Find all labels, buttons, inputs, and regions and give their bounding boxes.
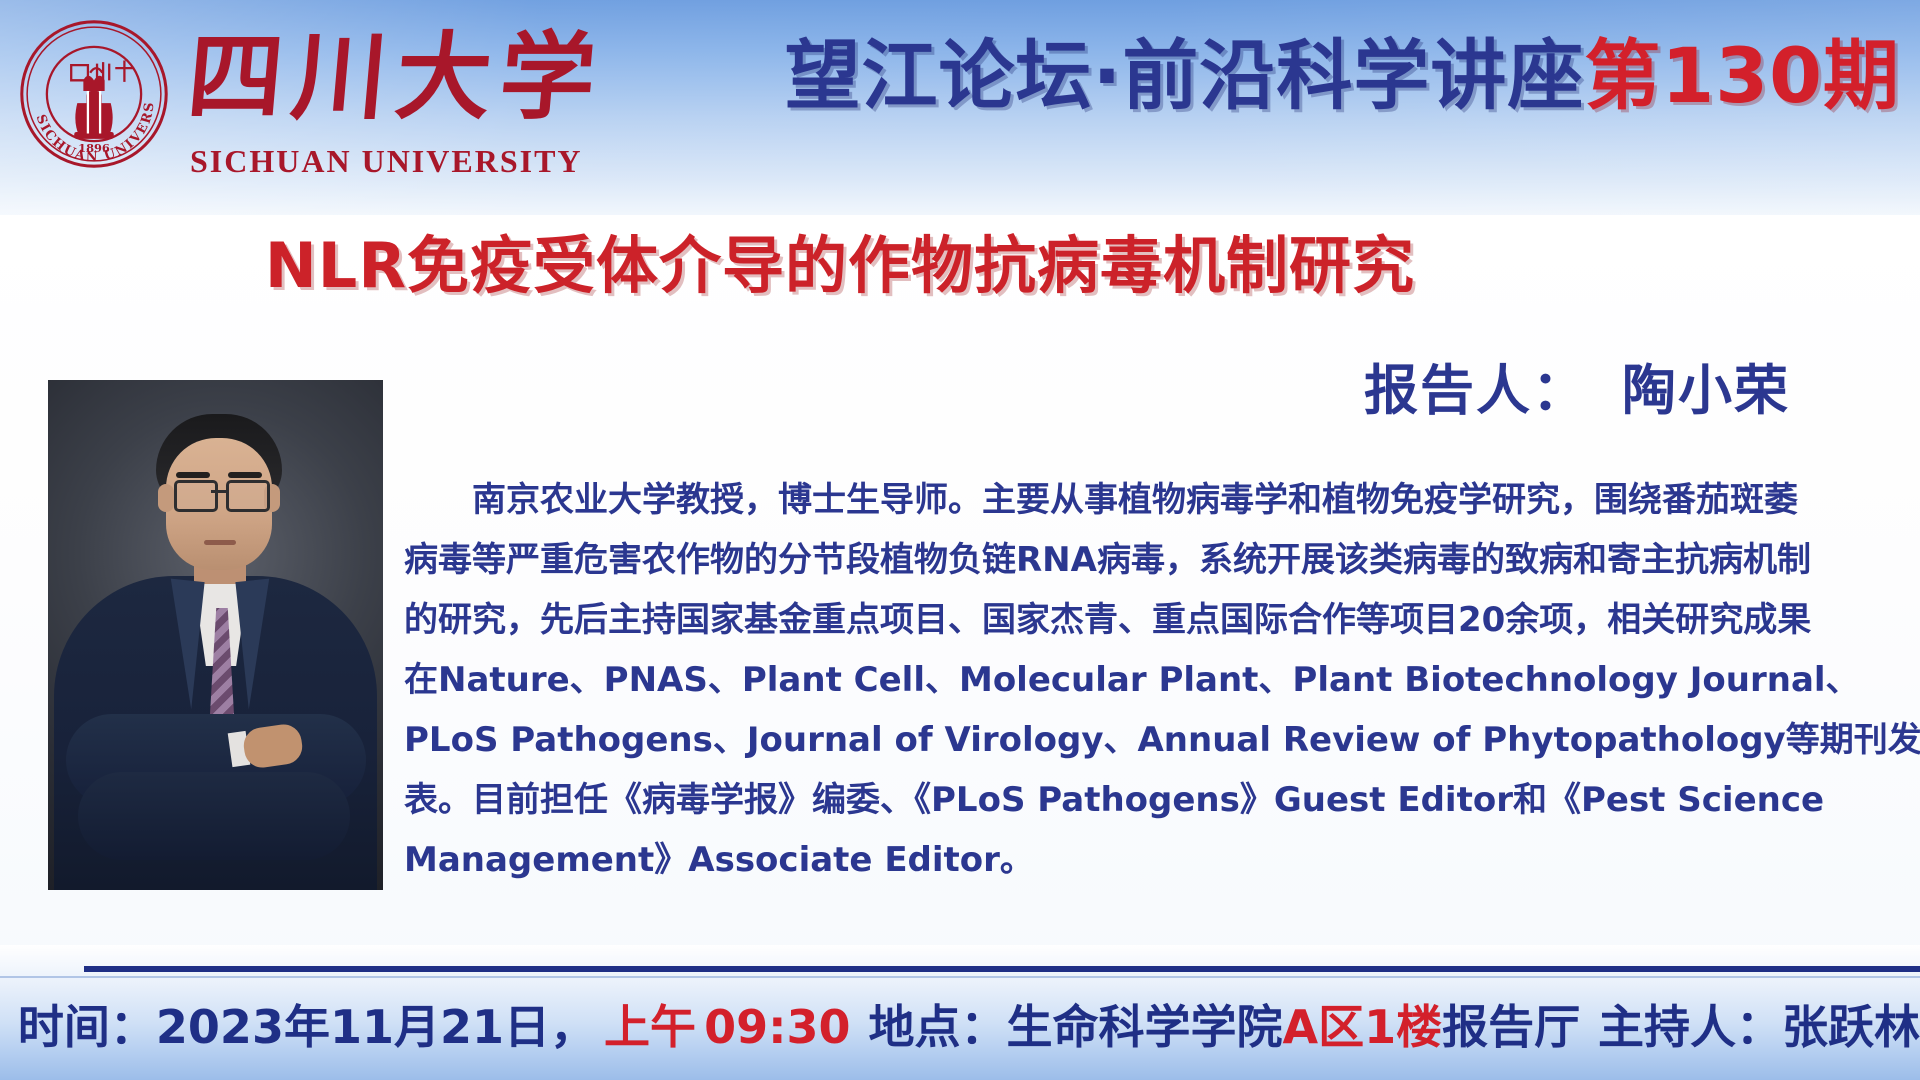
university-name-en: SICHUAN UNIVERSITY (190, 143, 583, 179)
portrait-glasses-right (226, 480, 270, 512)
lecture-title: NLR免疫受体介导的作物抗病毒机制研究 (0, 228, 1680, 304)
bio-line: Management》Associate Editor。 (404, 830, 1912, 890)
bio-line: 南京农业大学教授，博士生导师。主要从事植物病毒学和植物免疫学研究，围绕番茄斑萎 (404, 470, 1912, 530)
bio-line: PLoS Pathogens、Journal of Virology、Annua… (404, 710, 1912, 770)
portrait-mouth (204, 540, 236, 545)
footer-info-bar: 时间：2023年11月21日，上午09:30 地点：生命科学学院A区1楼报告厅 … (0, 988, 1920, 1066)
lecture-poster: 1896 SICHUAN UNIVERSITY 四川大学 SICHUAN UNI… (0, 0, 1920, 1080)
footer-divider-thin (0, 976, 1920, 978)
speaker-bio: 南京农业大学教授，博士生导师。主要从事植物病毒学和植物免疫学研究，围绕番茄斑萎 … (404, 470, 1912, 890)
time-period: 上午 (604, 999, 696, 1055)
speaker-label: 报告人： (1364, 359, 1588, 422)
bio-line: 在Nature、PNAS、Plant Cell、Molecular Plant、… (404, 650, 1912, 710)
banner-series-title: 望江论坛·前沿科学讲座 (784, 31, 1584, 121)
host-name: 张跃林 (1782, 999, 1920, 1055)
portrait-glasses-left (174, 480, 218, 512)
university-seal-icon: 1896 SICHUAN UNIVERSITY (18, 18, 170, 170)
host-label: 主持人： (1598, 999, 1782, 1055)
speaker-portrait (48, 380, 383, 890)
portrait-ear-left (158, 484, 174, 512)
speaker-name: 陶小荣 (1622, 359, 1790, 422)
place-prefix: 生命科学学院 (1006, 999, 1282, 1055)
university-logo: 1896 SICHUAN UNIVERSITY 四川大学 SICHUAN UNI… (10, 12, 570, 178)
time-label: 时间： (18, 999, 156, 1055)
bio-line: 表。目前担任《病毒学报》编委、《PLoS Pathogens》Guest Edi… (404, 770, 1912, 830)
banner: 望江论坛·前沿科学讲座第130期 (700, 24, 1900, 128)
place-label: 地点： (868, 999, 1006, 1055)
banner-issue-number: 第130期 (1584, 31, 1900, 121)
place-highlight: A区1楼 (1282, 999, 1442, 1055)
time-date: 2023年11月21日， (156, 999, 596, 1055)
portrait-arm-lower (78, 772, 350, 860)
time-clock: 09:30 (704, 999, 850, 1055)
bio-line: 病毒等严重危害农作物的分节段植物负链RNA病毒，系统开展该类病毒的致病和寄主抗病… (404, 530, 1912, 590)
university-name-cn: 四川大学 (183, 26, 608, 130)
bio-line: 的研究，先后主持国家基金重点项目、国家杰青、重点国际合作等项目20余项，相关研究… (404, 590, 1912, 650)
portrait-glasses-bridge (211, 490, 227, 493)
portrait-eyebrow-left (176, 472, 210, 478)
portrait-eyebrow-right (228, 472, 262, 478)
place-suffix: 报告厅 (1442, 999, 1580, 1055)
footer-divider-rule (84, 966, 1920, 972)
